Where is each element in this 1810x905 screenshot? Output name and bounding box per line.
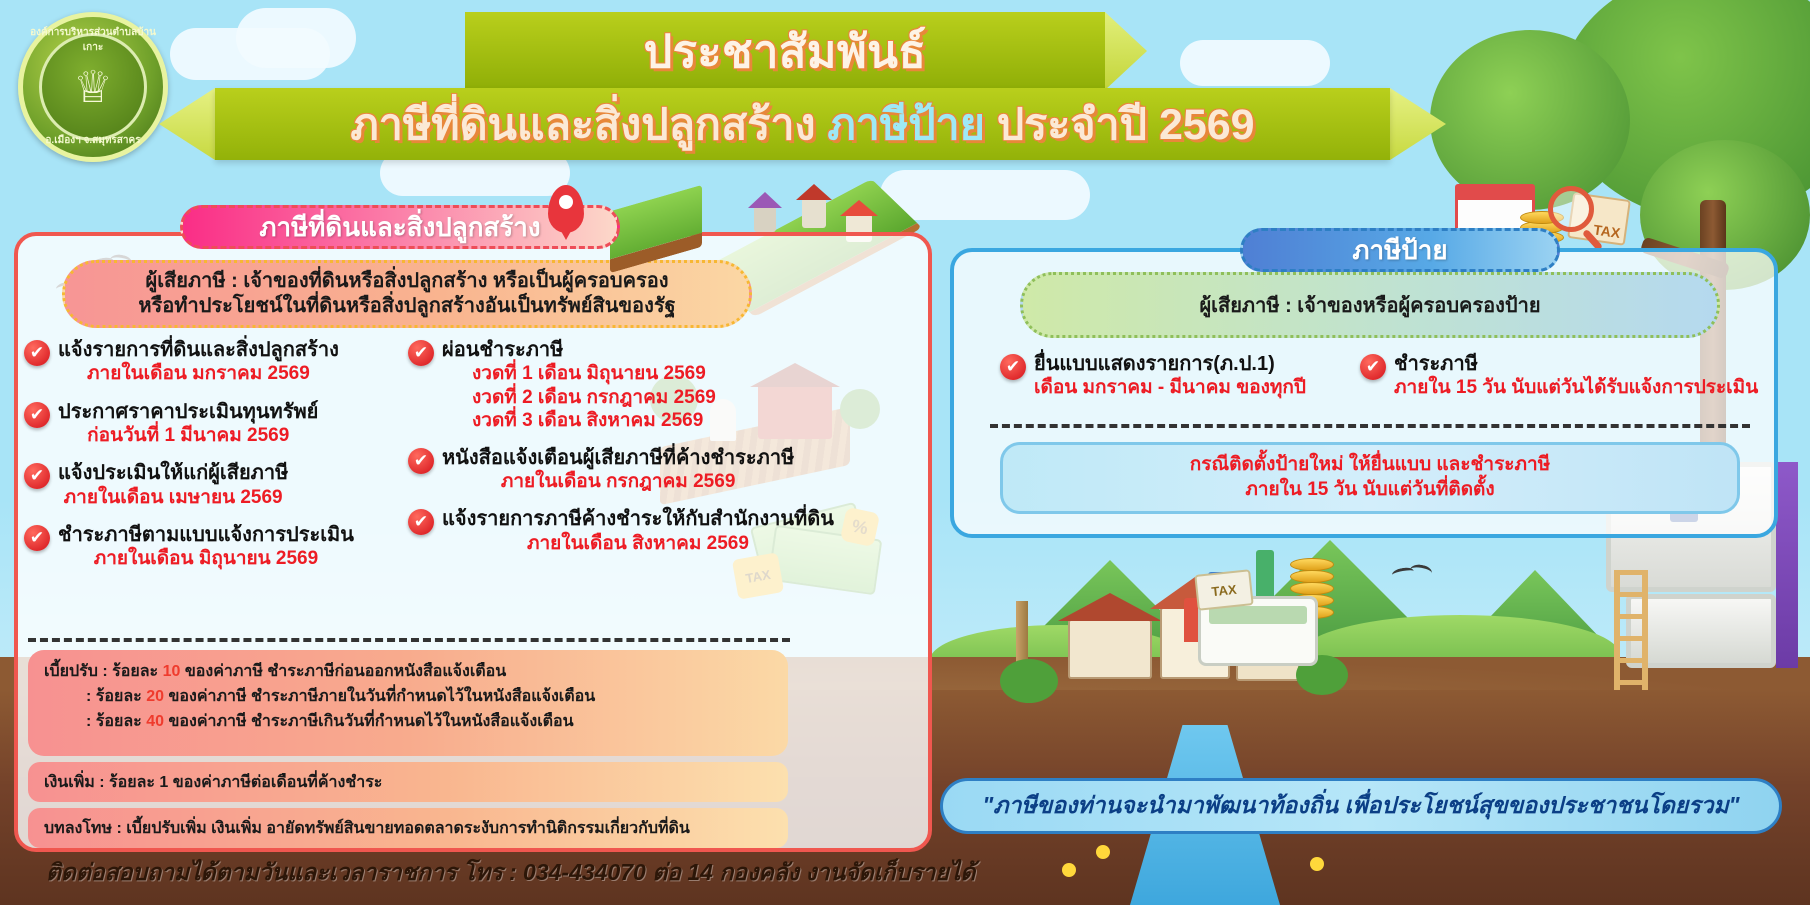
organization-logo: องค์การบริหารส่วนตำบลบ้านเกาะ อ.เมืองฯ จ… (18, 12, 168, 162)
surcharge-text: เงินเพิ่ม : ร้อยละ 1 ของค่าภาษีต่อเดือนท… (44, 770, 382, 795)
list-item: ✔ ผ่อนชำระภาษี งวดที่ 1 เดือน มิถุนายน 2… (408, 338, 888, 432)
penalty-text-1: ของค่าภาษี ชำระภาษีก่อนออกหนังสือแจ้งเตื… (185, 663, 506, 680)
step-deadline: ภายใน 15 วัน นับแต่วันได้รับแจ้งการประเม… (1394, 376, 1758, 399)
signboard-tax-pill-label: ภาษีป้าย (1352, 230, 1447, 271)
penalty-row: : ร้อยละ 40 ของค่าภาษี ชำระภาษีเกินวันที… (44, 710, 772, 735)
step-installment-3: งวดที่ 3 เดือน สิงหาคม 2569 (442, 409, 716, 432)
check-icon: ✔ (1360, 354, 1386, 380)
location-pin-tip (556, 222, 576, 240)
logo-top-text: องค์การบริหารส่วนตำบลบ้านเกาะ (23, 25, 163, 55)
magnifier-icon (1548, 186, 1594, 232)
contact-footer: ติดต่อสอบถามได้ตามวันและเวลาราชการ โทร :… (46, 855, 975, 891)
penalty-rate-2: 20 (146, 688, 164, 705)
signboard-note-line1: กรณีติดตั้งป้ายใหม่ ให้ยื่นแบบ และชำระภา… (1190, 453, 1550, 478)
cloud-decor (1180, 40, 1330, 86)
quote-bar: "ภาษีของท่านจะนำมาพัฒนาท้องถิ่น เพื่อประ… (940, 778, 1782, 834)
penalty-box: เบี้ยปรับ : ร้อยละ 10 ของค่าภาษี ชำระภาษ… (28, 650, 788, 756)
bird-icon (1391, 566, 1414, 580)
coin-icon (1290, 570, 1334, 583)
punishment-text: บทลงโทษ : เบี้ยปรับเพิ่ม เงินเพิ่ม อายัด… (44, 816, 690, 841)
land-tax-taxpayer-box: ผู้เสียภาษี : เจ้าของที่ดินหรือสิ่งปลูกส… (62, 260, 752, 328)
check-icon: ✔ (24, 340, 50, 366)
cloud-decor (880, 170, 1090, 220)
step-deadline: เดือน มกราคม - มีนาคม ของทุกปี (1034, 376, 1306, 399)
page-title: ภาษีที่ดินและสิ่งปลูกสร้าง ภาษีป้าย ประจ… (350, 90, 1254, 158)
check-icon: ✔ (24, 525, 50, 551)
announcement-banner: ประชาสัมพันธ์ (465, 12, 1105, 90)
check-icon: ✔ (408, 448, 434, 474)
step-deadline: ภายในเดือน มิถุนายน 2569 (58, 547, 354, 570)
billboard-panel-small (1626, 594, 1776, 668)
title-banner: ภาษีที่ดินและสิ่งปลูกสร้าง ภาษีป้าย ประจ… (215, 88, 1390, 160)
title-for-year: ประจำปี (997, 101, 1147, 149)
step-title: ยื่นแบบแสดงรายการ(ภ.ป.1) (1034, 352, 1306, 376)
penalty-label: เบี้ยปรับ : (44, 663, 108, 680)
title-land-tax: ภาษีที่ดินและสิ่งปลูกสร้าง (350, 101, 815, 149)
bush-icon (1000, 659, 1058, 703)
signboard-taxpayer-box: ผู้เสียภาษี : เจ้าของหรือผู้ครอบครองป้าย (1020, 272, 1720, 338)
step-title: แจ้งรายการที่ดินและสิ่งปลูกสร้าง (58, 338, 339, 362)
step-title: ผ่อนชำระภาษี (442, 338, 716, 362)
list-item: ✔ หนังสือแจ้งเตือนผู้เสียภาษีที่ค้างชำระ… (408, 446, 888, 494)
list-item: ✔ ชำระภาษี ภายใน 15 วัน นับแต่วันได้รับแ… (1360, 352, 1760, 400)
billboard-side (1776, 462, 1798, 668)
step-deadline: ก่อนวันที่ 1 มีนาคม 2569 (58, 424, 318, 447)
list-item: ✔ ยื่นแบบแสดงรายการ(ภ.ป.1) เดือน มกราคม … (1000, 352, 1360, 400)
signboard-note-line2: ภายใน 15 วัน นับแต่วันที่ติดตั้ง (1245, 478, 1494, 503)
check-icon: ✔ (24, 463, 50, 489)
step-title: หนังสือแจ้งเตือนผู้เสียภาษีที่ค้างชำระภา… (442, 446, 794, 470)
roof-icon (840, 200, 878, 216)
tax-card-icon: TAX (1194, 569, 1253, 611)
signboard-tax-pill: ภาษีป้าย (1240, 228, 1560, 272)
step-title: ชำระภาษีตามแบบแจ้งการประเมิน (58, 523, 354, 547)
house-icon (1068, 619, 1152, 679)
cloud-decor (236, 8, 356, 68)
penalty-rate-1: 10 (163, 663, 181, 680)
title-banner-wing-left (159, 88, 215, 160)
step-deadline: ภายในเดือน เมษายน 2569 (58, 486, 288, 509)
land-tax-taxpayer-line2: หรือทำประโยชน์ในที่ดินหรือสิ่งปลูกสร้างอ… (138, 294, 675, 319)
penalty-prefix-2: : ร้อยละ (86, 688, 142, 705)
penalty-prefix-3: : ร้อยละ (86, 713, 142, 730)
logo-bottom-text: อ.เมืองฯ จ.สมุทรสาคร (23, 133, 163, 148)
roof-icon (796, 184, 832, 200)
title-year: 2569 (1159, 101, 1255, 149)
roof-icon (748, 192, 782, 208)
section-divider (28, 638, 790, 642)
step-installment-1: งวดที่ 1 เดือน มิถุนายน 2569 (442, 362, 716, 385)
penalty-prefix-1: ร้อยละ (112, 663, 158, 680)
land-tax-steps-left: ✔ แจ้งรายการที่ดินและสิ่งปลูกสร้าง ภายใน… (24, 338, 354, 584)
title-signboard-tax: ภาษีป้าย (827, 101, 984, 149)
signboard-note-box: กรณีติดตั้งป้ายใหม่ ให้ยื่นแบบ และชำระภา… (1000, 442, 1740, 514)
coin-icon (1290, 582, 1334, 595)
list-item: ✔ แจ้งรายการที่ดินและสิ่งปลูกสร้าง ภายใน… (24, 338, 354, 386)
calculator-screen (1209, 606, 1307, 624)
flower-icon (1096, 845, 1110, 859)
banner-wing-right (1105, 12, 1147, 90)
ladder-icon (1614, 570, 1648, 690)
signboard-steps-left: ✔ ยื่นแบบแสดงรายการ(ภ.ป.1) เดือน มกราคม … (1000, 352, 1360, 414)
flower-icon (1062, 863, 1076, 877)
step-deadline: ภายในเดือน มกราคม 2569 (58, 362, 339, 385)
list-item: ✔ แจ้งรายการภาษีค้างชำระให้กับสำนักงานที… (408, 507, 888, 555)
roof-icon (1058, 593, 1162, 621)
logo-ring: องค์การบริหารส่วนตำบลบ้านเกาะ อ.เมืองฯ จ… (23, 17, 163, 157)
penalty-rate-3: 40 (146, 713, 164, 730)
list-item: ✔ ชำระภาษีตามแบบแจ้งการประเมิน ภายในเดือ… (24, 523, 354, 571)
list-item: ✔ ประกาศราคาประเมินทุนทรัพย์ ก่อนวันที่ … (24, 400, 354, 448)
coin-icon (1290, 558, 1334, 571)
list-item: ✔ แจ้งประเมินให้แก่ผู้เสียภาษี ภายในเดือ… (24, 461, 354, 509)
announcement-label: ประชาสัมพันธ์ (644, 15, 927, 87)
flower-icon (1310, 857, 1324, 871)
quote-text: "ภาษีของท่านจะนำมาพัฒนาท้องถิ่น เพื่อประ… (982, 788, 1739, 824)
penalty-row: : ร้อยละ 20 ของค่าภาษี ชำระภาษีภายในวันท… (44, 685, 772, 710)
check-icon: ✔ (24, 402, 50, 428)
punishment-box: บทลงโทษ : เบี้ยปรับเพิ่ม เงินเพิ่ม อายัด… (28, 808, 788, 848)
step-title: ชำระภาษี (1394, 352, 1758, 376)
land-tax-pill-label: ภาษีที่ดินและสิ่งปลูกสร้าง (259, 207, 540, 248)
step-installment-2: งวดที่ 2 เดือน กรกฎาคม 2569 (442, 386, 716, 409)
calendar-header (1455, 184, 1535, 200)
signboard-steps-right: ✔ ชำระภาษี ภายใน 15 วัน นับแต่วันได้รับแ… (1360, 352, 1760, 414)
house-icon (754, 206, 776, 232)
step-deadline: ภายในเดือน กรกฎาคม 2569 (442, 470, 794, 493)
step-title: ประกาศราคาประเมินทุนทรัพย์ (58, 400, 318, 424)
poster-root: TAX % TAX (0, 0, 1810, 905)
house-icon (802, 198, 826, 228)
check-icon: ✔ (1000, 354, 1026, 380)
section-divider (990, 424, 1750, 428)
step-title: แจ้งรายการภาษีค้างชำระให้กับสำนักงานที่ด… (442, 507, 834, 531)
check-icon: ✔ (408, 509, 434, 535)
surcharge-box: เงินเพิ่ม : ร้อยละ 1 ของค่าภาษีต่อเดือนท… (28, 762, 788, 802)
penalty-text-3: ของค่าภาษี ชำระภาษีเกินวันที่กำหนดไว้ในห… (168, 713, 573, 730)
check-icon: ✔ (408, 340, 434, 366)
step-title: แจ้งประเมินให้แก่ผู้เสียภาษี (58, 461, 288, 485)
signboard-taxpayer-text: ผู้เสียภาษี : เจ้าของหรือผู้ครอบครองป้าย (1199, 289, 1540, 321)
land-tax-steps-right: ✔ ผ่อนชำระภาษี งวดที่ 1 เดือน มิถุนายน 2… (408, 338, 888, 569)
land-tax-taxpayer-line1: ผู้เสียภาษี : เจ้าของที่ดินหรือสิ่งปลูกส… (146, 269, 669, 294)
penalty-text-2: ของค่าภาษี ชำระภาษีภายในวันที่กำหนดไว้ใน… (168, 688, 595, 705)
penalty-row: เบี้ยปรับ : ร้อยละ 10 ของค่าภาษี ชำระภาษ… (44, 660, 772, 685)
step-deadline: ภายในเดือน สิงหาคม 2569 (442, 532, 834, 555)
